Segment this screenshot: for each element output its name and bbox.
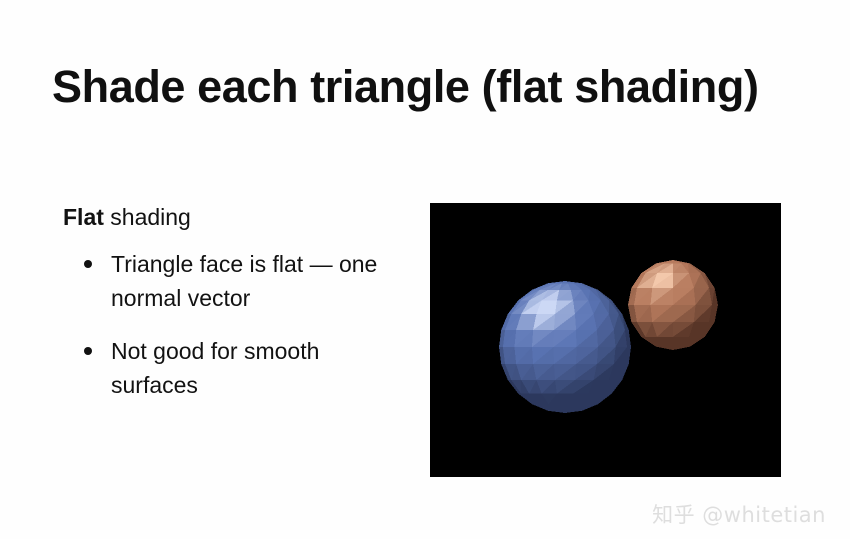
flat-shaded-spheres-render <box>430 203 781 477</box>
list-item: Triangle face is flat — one normal vecto… <box>63 247 393 315</box>
text-column: Flat shading Triangle face is flat — one… <box>63 201 393 402</box>
list-item-label: Not good for smooth surfaces <box>111 338 319 398</box>
section-heading-keyword: Flat <box>63 204 104 230</box>
page-title: Shade each triangle (flat shading) <box>52 63 759 112</box>
render-svg <box>430 203 781 477</box>
list-item: Not good for smooth surfaces <box>63 334 393 402</box>
section-heading-rest: shading <box>104 204 191 230</box>
list-item-label: Triangle face is flat — one normal vecto… <box>111 251 377 311</box>
slide-canvas: Shade each triangle (flat shading) Flat … <box>0 0 850 539</box>
section-heading: Flat shading <box>63 201 393 233</box>
copper-faceted-sphere <box>628 260 718 350</box>
bullet-dot-icon <box>84 347 92 355</box>
bullet-list: Triangle face is flat — one normal vecto… <box>63 247 393 402</box>
blue-faceted-sphere <box>499 281 631 413</box>
watermark: 知乎 @whitetian <box>652 499 826 529</box>
bullet-dot-icon <box>84 260 92 268</box>
